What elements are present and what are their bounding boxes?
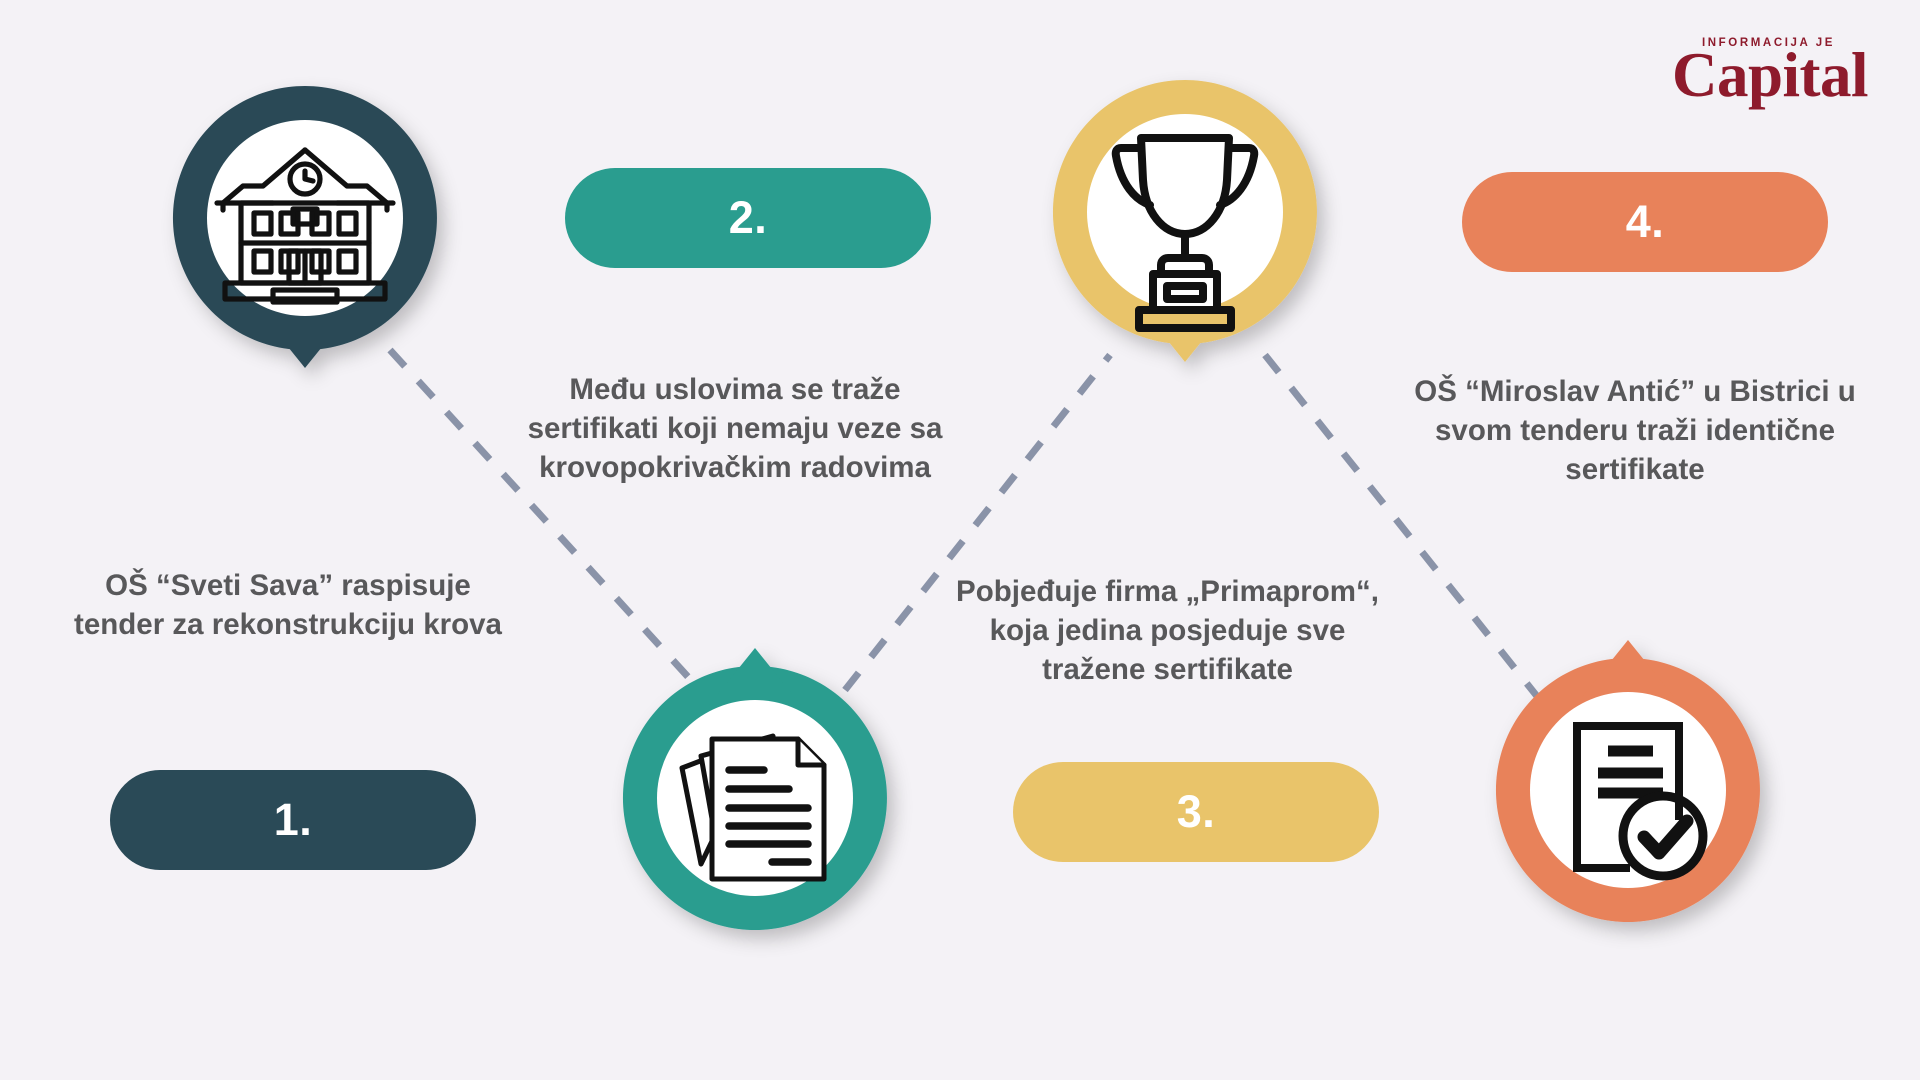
- step-4-pin[interactable]: [1478, 640, 1778, 940]
- step-2-number: 2.: [729, 192, 768, 244]
- logo-wordmark: Capital: [1672, 46, 1868, 106]
- step-1-caption: OŠ “Sveti Sava” raspisuje tender za reko…: [68, 566, 508, 644]
- step-4-number-badge[interactable]: 4.: [1462, 172, 1828, 272]
- step-2-caption: Među uslovima se traže sertifikati koji …: [510, 370, 960, 488]
- step-3-pin[interactable]: [1035, 62, 1335, 362]
- step-3-number: 3.: [1177, 786, 1216, 838]
- step-3-number-badge[interactable]: 3.: [1013, 762, 1379, 862]
- infographic-canvas: INFORMACIJA JE Capital: [0, 0, 1920, 1080]
- step-2-number-badge[interactable]: 2.: [565, 168, 931, 268]
- step-3-caption: Pobjeđuje firma „Primaprom“, koja jedina…: [955, 572, 1380, 690]
- step-4-number: 4.: [1626, 196, 1665, 248]
- step-2-pin[interactable]: [605, 648, 905, 948]
- step-4-caption: OŠ “Miroslav Antić” u Bistrici u svom te…: [1410, 372, 1860, 490]
- step-1-pin[interactable]: [155, 68, 455, 368]
- step-1-number: 1.: [274, 794, 313, 846]
- capital-logo: INFORMACIJA JE Capital: [1672, 38, 1868, 105]
- step-1-number-badge[interactable]: 1.: [110, 770, 476, 870]
